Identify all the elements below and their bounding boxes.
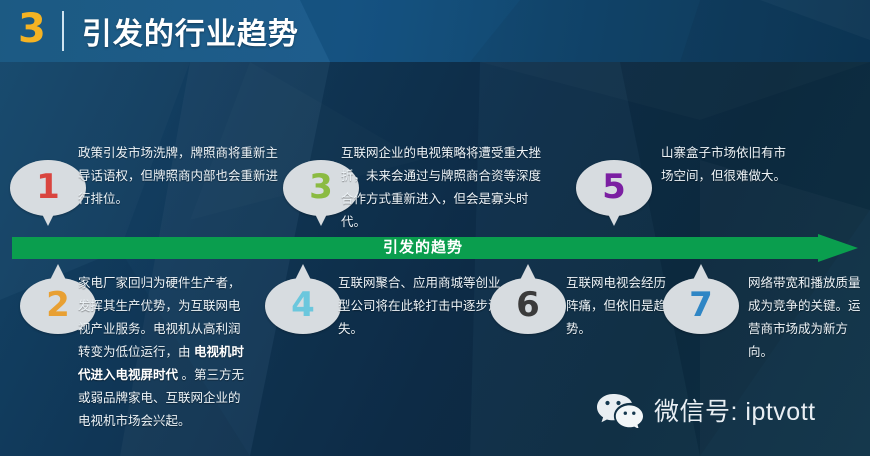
header-content: 3 引发的行业趋势 [10, 0, 299, 62]
item-1-text: 政策引发市场洗牌，牌照商将重新主导话语权，但牌照商内部也会重新进行排位。 [78, 142, 284, 211]
bubble-7: 7 [663, 278, 739, 340]
item-3-text: 互联网企业的电视策略将遭受重大挫折，未来会通过与牌照商合资等深度合作方式重新进入… [341, 142, 549, 234]
wechat-footer: 微信号: iptvott [596, 392, 816, 428]
item-5-text: 山寨盒子市场依旧有市场空间，但很难做大。 [661, 142, 791, 188]
bubble-7-number: 7 [663, 278, 739, 334]
item-2-text: 家电厂家回归为硬件生产者，发挥其生产优势，为互联网电视产业服务。电视机从高利润转… [78, 272, 250, 433]
section-number: 3 [10, 9, 62, 53]
item-6-text: 互联网电视会经历阵痛，但依旧是趋势。 [566, 272, 676, 341]
bubble-5: 5 [576, 160, 652, 222]
item-7-text: 网络带宽和播放质量成为竞争的关键。运营商市场成为新方向。 [748, 272, 864, 364]
bubble-1-number: 1 [10, 160, 86, 216]
header-divider [62, 11, 64, 51]
bubble-6-number: 6 [490, 278, 566, 334]
page-title: 引发的行业趋势 [82, 9, 299, 53]
item-4-text: 互联网聚合、应用商城等创业型公司将在此轮打击中逐步消失。 [338, 272, 508, 341]
slide-canvas: 3 引发的行业趋势 1 政策引发市场洗牌，牌照商将重新主导话语权，但牌照商内部也… [0, 0, 870, 456]
bubble-4: 4 [265, 278, 341, 340]
bubble-4-number: 4 [265, 278, 341, 334]
wechat-id-label: 微信号: iptvott [654, 392, 816, 428]
bubble-5-number: 5 [576, 160, 652, 216]
trend-arrow-banner [12, 234, 858, 262]
wechat-icon [596, 392, 644, 428]
bubble-6: 6 [490, 278, 566, 340]
bubble-1: 1 [10, 160, 86, 222]
header-band: 3 引发的行业趋势 [0, 0, 870, 62]
arrow-shape [12, 234, 858, 262]
